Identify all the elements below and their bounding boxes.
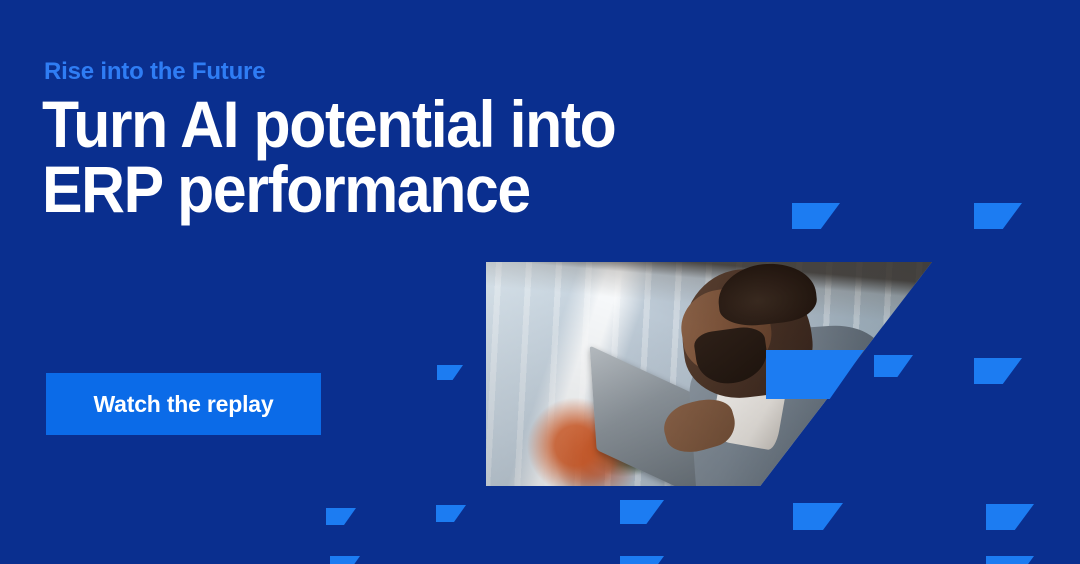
chevron-shape-icon [793, 503, 843, 530]
headline-line-2: ERP performance [42, 157, 741, 222]
chevron-shape-icon [436, 505, 466, 522]
chevron-shape-icon [620, 500, 664, 524]
chevron-shape-icon [792, 203, 840, 229]
hero-photo [486, 262, 932, 486]
chevron-shape-icon [974, 358, 1022, 384]
photo-shading [486, 262, 932, 486]
chevron-shape-icon [986, 556, 1034, 564]
chevron-shape-icon [986, 504, 1034, 530]
chevron-shape-icon [974, 203, 1022, 229]
chevron-shape-icon [874, 355, 913, 377]
chevron-shape-icon [330, 556, 360, 564]
chevron-shape-icon [326, 508, 356, 525]
page-title: Turn AI potential into ERP performance [42, 92, 741, 221]
headline-line-1: Turn AI potential into [42, 92, 741, 157]
eyebrow-text: Rise into the Future [44, 58, 265, 86]
watch-replay-button[interactable]: Watch the replay [46, 373, 321, 435]
promo-banner: Rise into the Future Turn AI potential i… [0, 0, 1080, 564]
chevron-shape-icon [437, 365, 463, 380]
accent-wedge-icon [766, 350, 864, 399]
chevron-shape-icon [620, 556, 664, 564]
